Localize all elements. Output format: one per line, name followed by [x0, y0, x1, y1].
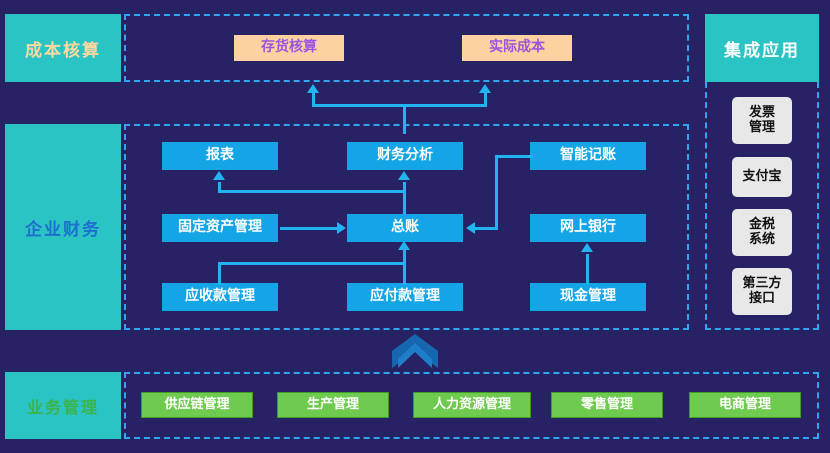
connector-payables-riser: [403, 262, 406, 284]
connector-riser-reports: [218, 182, 221, 192]
connector-riser-inventory: [312, 93, 315, 107]
node-actual-cost[interactable]: 实际成本: [462, 35, 572, 61]
architecture-diagram: 成本核算 存货核算 实际成本 企业财务 报表 财务分析 智能记账 固定资产管理 …: [0, 0, 830, 453]
node-ecommerce-management[interactable]: 电商管理: [689, 392, 801, 418]
node-fixed-asset-management[interactable]: 固定资产管理: [162, 214, 278, 242]
connector-cash-to-online-banking: [586, 254, 589, 284]
node-general-ledger[interactable]: 总账: [347, 214, 463, 242]
arrowhead-bookkeeping-to-ledger: [466, 222, 475, 234]
node-invoice-management[interactable]: 发票管理: [732, 97, 792, 144]
chevron-up-icon: [392, 334, 438, 368]
node-retail-management[interactable]: 零售管理: [551, 392, 663, 418]
category-panel-integrated-applications: 集成应用: [705, 14, 819, 82]
node-online-banking[interactable]: 网上银行: [530, 214, 646, 242]
connector-ledger-to-reports-bus: [218, 190, 404, 193]
arrowhead-to-actual-cost: [479, 84, 491, 93]
node-alipay[interactable]: 支付宝: [732, 157, 792, 197]
category-panel-business-management: 业务管理: [5, 372, 121, 439]
node-golden-tax-system[interactable]: 金税系统: [732, 209, 792, 256]
node-cash-management[interactable]: 现金管理: [530, 283, 646, 311]
node-reports[interactable]: 报表: [162, 142, 278, 170]
connector-bookkeeping-out: [495, 155, 533, 158]
arrowhead-fixed-asset-to-ledger: [337, 222, 346, 234]
node-payables-management[interactable]: 应付款管理: [347, 283, 463, 311]
node-human-resource-management[interactable]: 人力资源管理: [413, 392, 531, 418]
connector-ledger-inlet: [403, 250, 406, 264]
connector-ledger-to-financial-analysis: [403, 182, 406, 214]
arrowhead-to-reports: [213, 171, 225, 180]
node-production-management[interactable]: 生产管理: [277, 392, 389, 418]
connector-payables-receivables-bus: [218, 262, 406, 265]
category-panel-cost-accounting: 成本核算: [5, 14, 121, 82]
node-financial-analysis[interactable]: 财务分析: [347, 142, 463, 170]
arrowhead-to-financial-analysis: [398, 171, 410, 180]
arrowhead-to-online-banking: [581, 243, 593, 252]
connector-cost-bus-left: [312, 104, 406, 107]
node-third-party-interface[interactable]: 第三方接口: [732, 268, 792, 315]
connector-cost-bus-right: [403, 104, 487, 107]
connector-bookkeeping-into-ledger: [475, 227, 498, 230]
connector-receivables-riser: [218, 262, 221, 284]
connector-bookkeeping-drop: [495, 155, 498, 227]
category-panel-enterprise-finance: 企业财务: [5, 124, 121, 330]
node-receivables-management[interactable]: 应收款管理: [162, 283, 278, 311]
arrowhead-to-general-ledger: [398, 241, 410, 250]
node-supply-chain-management[interactable]: 供应链管理: [141, 392, 253, 418]
connector-fixed-asset-to-ledger: [280, 227, 338, 230]
connector-riser-actual-cost: [484, 93, 487, 107]
arrowhead-to-inventory-accounting: [307, 84, 319, 93]
node-inventory-accounting[interactable]: 存货核算: [234, 35, 344, 61]
region-cost-accounting: [124, 14, 689, 82]
node-smart-bookkeeping[interactable]: 智能记账: [530, 142, 646, 170]
